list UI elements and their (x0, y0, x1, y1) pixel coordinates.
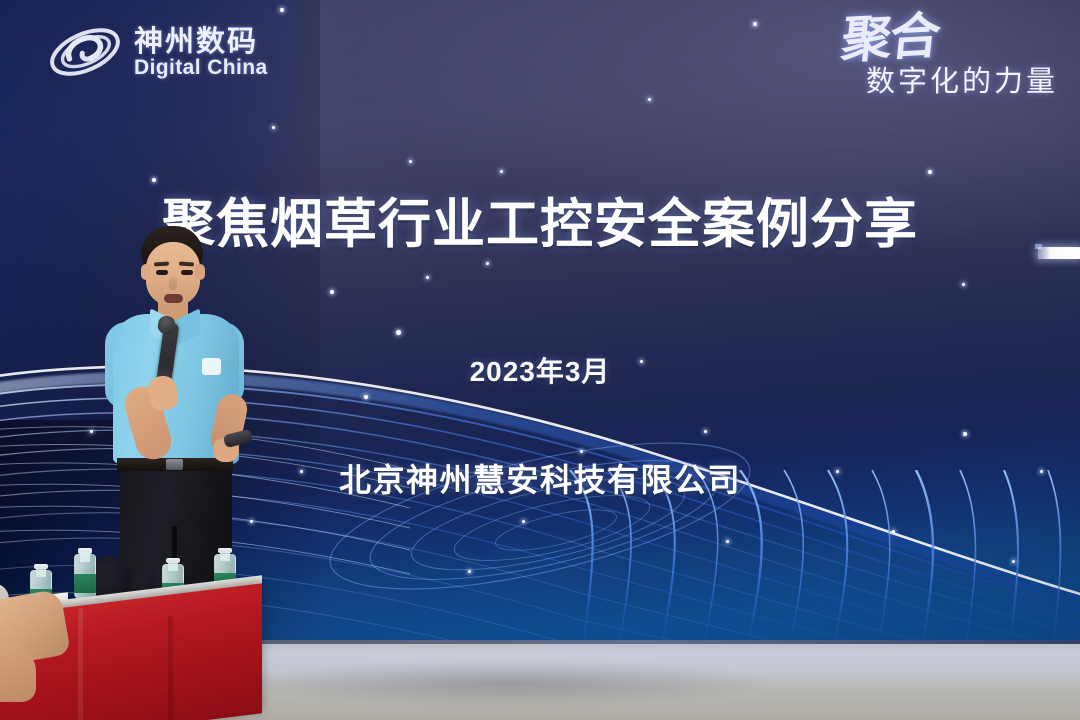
presenter-belt-buckle (166, 459, 183, 470)
stage-floor-shadow (250, 660, 770, 706)
digital-china-chinese: 神州数码 (134, 26, 258, 58)
digital-china-logo: 神州数码 Digital China (46, 22, 268, 82)
digital-china-swirl-icon (46, 22, 124, 82)
digital-china-english: Digital China (134, 56, 268, 79)
event-calligraphy: 聚合 (839, 12, 941, 65)
presenter-eye-right (181, 270, 193, 275)
presenter-nose (169, 276, 177, 290)
presenter-mouth (164, 294, 183, 303)
presenter-ear-right (195, 264, 205, 280)
conference-stage-scene: 神州数码 Digital China 聚合 数字化的力量 聚焦烟草行业工控安全案… (0, 0, 1080, 720)
event-theme-logo: 聚合 数字化的力量 (842, 14, 1058, 100)
presenter-ear-left (141, 264, 151, 280)
presenter-chest-logo (202, 358, 221, 375)
tablecloth-fold (168, 616, 173, 720)
presenter-eye-left (156, 270, 168, 275)
tablecloth-fold (78, 608, 83, 720)
digital-china-wordmark: 神州数码 Digital China (134, 26, 268, 78)
